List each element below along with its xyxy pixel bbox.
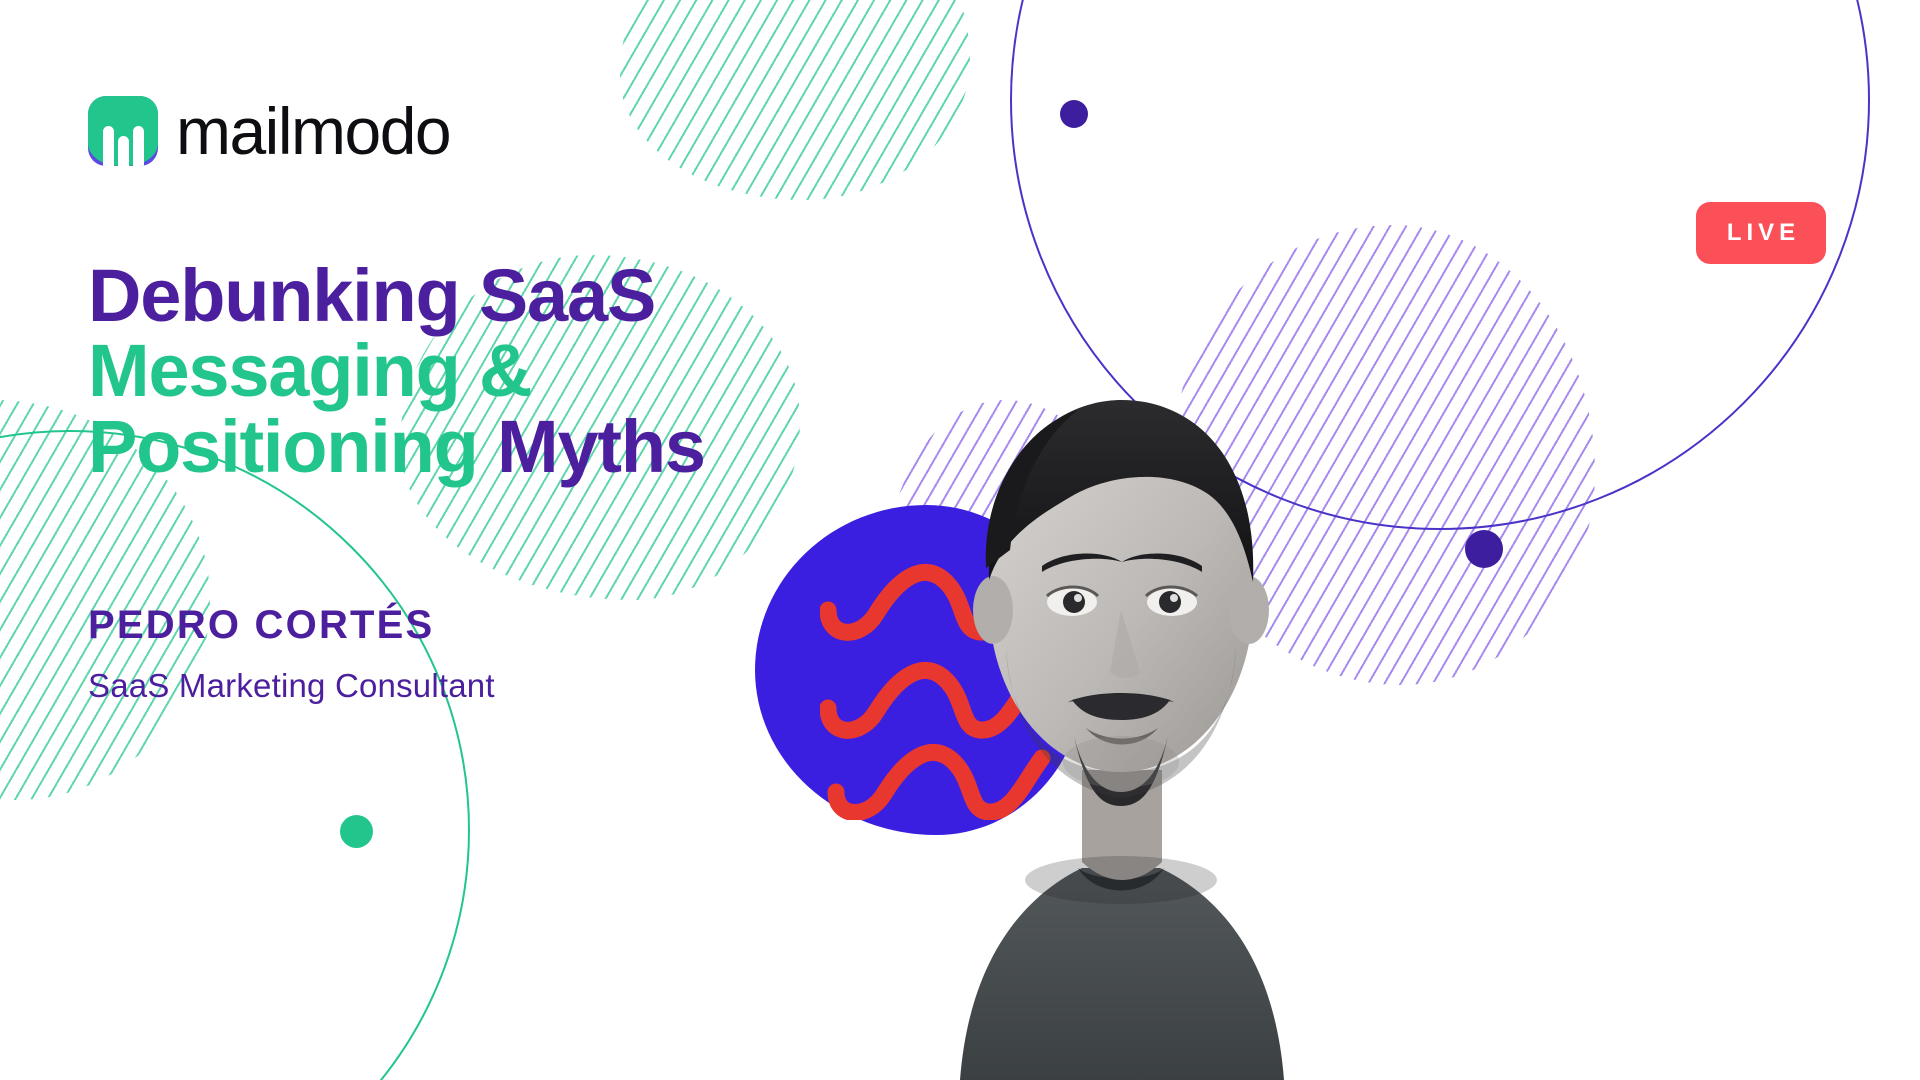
purple-dot-small: [1060, 100, 1088, 128]
brand-wordmark: mailmodo: [176, 98, 450, 164]
logo-bar-3: [133, 126, 144, 166]
brand-logo[interactable]: mailmodo: [88, 96, 450, 166]
live-badge-label: LIVE: [1722, 219, 1800, 247]
mint-dot: [340, 815, 373, 848]
mint-arc-ring: [0, 430, 470, 1080]
speaker-block: PEDRO CORTÉS SaaS Marketing Consultant: [88, 605, 495, 702]
title-line-1: Debunking SaaS: [88, 258, 705, 333]
logo-bar-2: [118, 136, 129, 166]
speaker-role: SaaS Marketing Consultant: [88, 669, 495, 702]
speaker-portrait: [810, 250, 1430, 1080]
webinar-title: Debunking SaaS Messaging & Positioning M…: [88, 258, 705, 484]
hatch-blob-mint-top: [620, 0, 970, 200]
title-line-2: Messaging &: [88, 333, 705, 408]
title-line-3-green: Positioning: [88, 405, 478, 488]
title-line-3: Positioning Myths: [88, 409, 705, 484]
speaker-name: PEDRO CORTÉS: [88, 605, 495, 645]
mailmodo-logo-icon: [88, 96, 158, 166]
logo-bar-1: [103, 126, 114, 166]
purple-dot-medium: [1465, 530, 1503, 568]
live-badge[interactable]: LIVE: [1696, 202, 1826, 264]
promo-canvas: mailmodo Debunking SaaS Messaging & Posi…: [0, 0, 1920, 1080]
title-line-3-purple: Myths: [497, 405, 705, 488]
